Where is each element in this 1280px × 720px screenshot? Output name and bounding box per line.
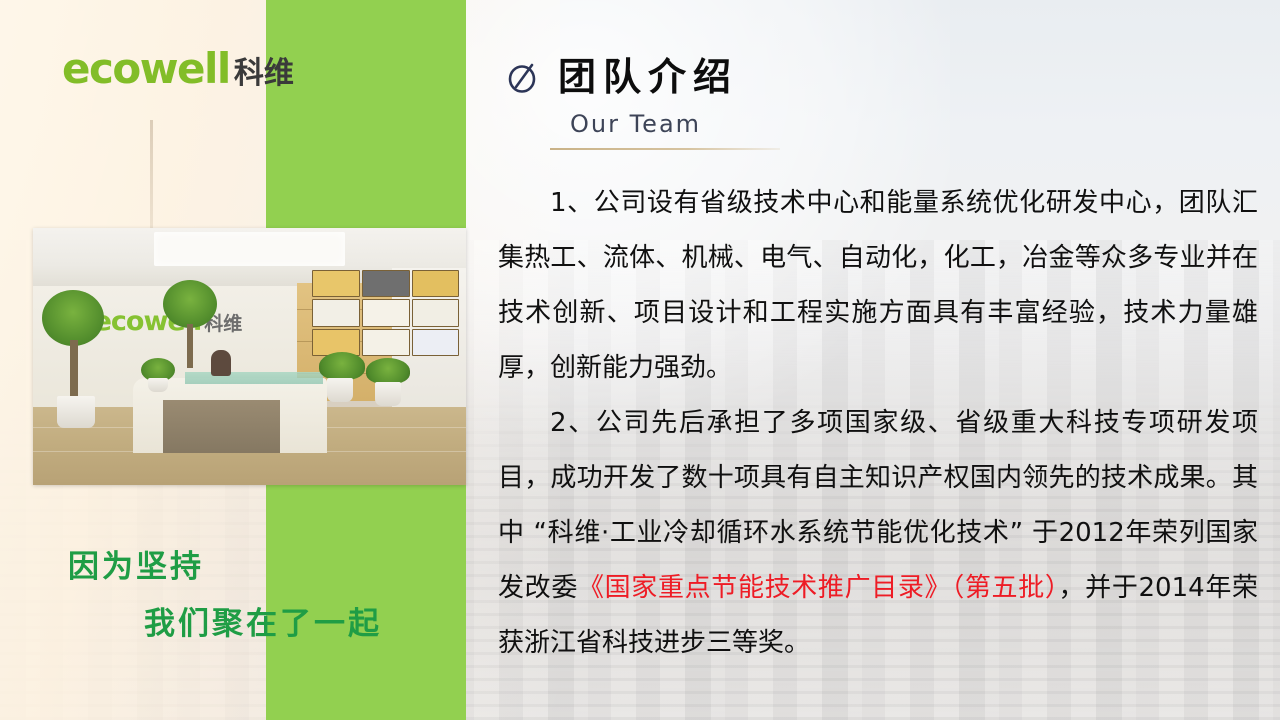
office-reception-photo: ecowell 科维 — [33, 228, 466, 485]
photo-desk-pot — [148, 378, 168, 392]
photo-desk-glass — [185, 372, 324, 384]
slogan-block: 因为坚持 我们聚在了一起 — [68, 548, 428, 644]
photo-certificate-wall — [312, 270, 459, 356]
photo-plant-right-b — [366, 358, 410, 384]
photo-certificate — [312, 270, 360, 297]
photo-plant-pot — [57, 396, 95, 428]
photo-certificate — [362, 329, 410, 356]
photo-certificate — [312, 299, 360, 326]
photo-plant-center — [163, 280, 217, 328]
brand-logo-cn: 科维 — [234, 59, 294, 89]
paragraph-1: 1、公司设有省级技术中心和能量系统优化研发中心，团队汇集热工、流体、机械、电气、… — [498, 176, 1258, 396]
title-divider — [550, 148, 780, 150]
brand-logo-word: ecowell — [62, 48, 230, 90]
photo-plant-right-a — [319, 352, 365, 380]
photo-plant-trunk — [70, 340, 78, 398]
photo-plant-left — [42, 290, 104, 346]
photo-receptionist — [211, 350, 231, 376]
photo-certificate — [362, 270, 410, 297]
photo-plant-trunk — [187, 324, 193, 368]
slogan-line-2: 我们聚在了一起 — [68, 605, 428, 644]
photo-certificate — [412, 270, 460, 297]
slogan-line-1: 因为坚持 — [68, 548, 428, 587]
photo-certificate — [412, 329, 460, 356]
page-subtitle: Our Team — [506, 110, 780, 138]
page-title: 团队介绍 — [558, 58, 738, 96]
photo-certificate — [412, 299, 460, 326]
photo-ceiling-panel — [154, 232, 345, 266]
paragraph-2: 2、公司先后承担了多项国家级、省级重大科技专项研发项目，成功开发了数十项具有自主… — [498, 396, 1258, 671]
photo-plant-pot — [327, 378, 353, 402]
circle-slash-icon — [506, 60, 540, 94]
body-content: 1、公司设有省级技术中心和能量系统优化研发中心，团队汇集热工、流体、机械、电气、… — [498, 176, 1258, 671]
title-block: 团队介绍 Our Team — [506, 58, 780, 150]
photo-certificate — [362, 299, 410, 326]
photo-plant-pot — [375, 382, 401, 406]
slide-canvas: ecowell 科维 ecowell 科维 — [0, 0, 1280, 720]
brand-logo: ecowell 科维 — [62, 48, 294, 90]
photo-desk-front-panel — [163, 400, 280, 453]
paragraph-2-highlight: 《国家重点节能技术推广目录》（第五批） — [578, 573, 1059, 603]
